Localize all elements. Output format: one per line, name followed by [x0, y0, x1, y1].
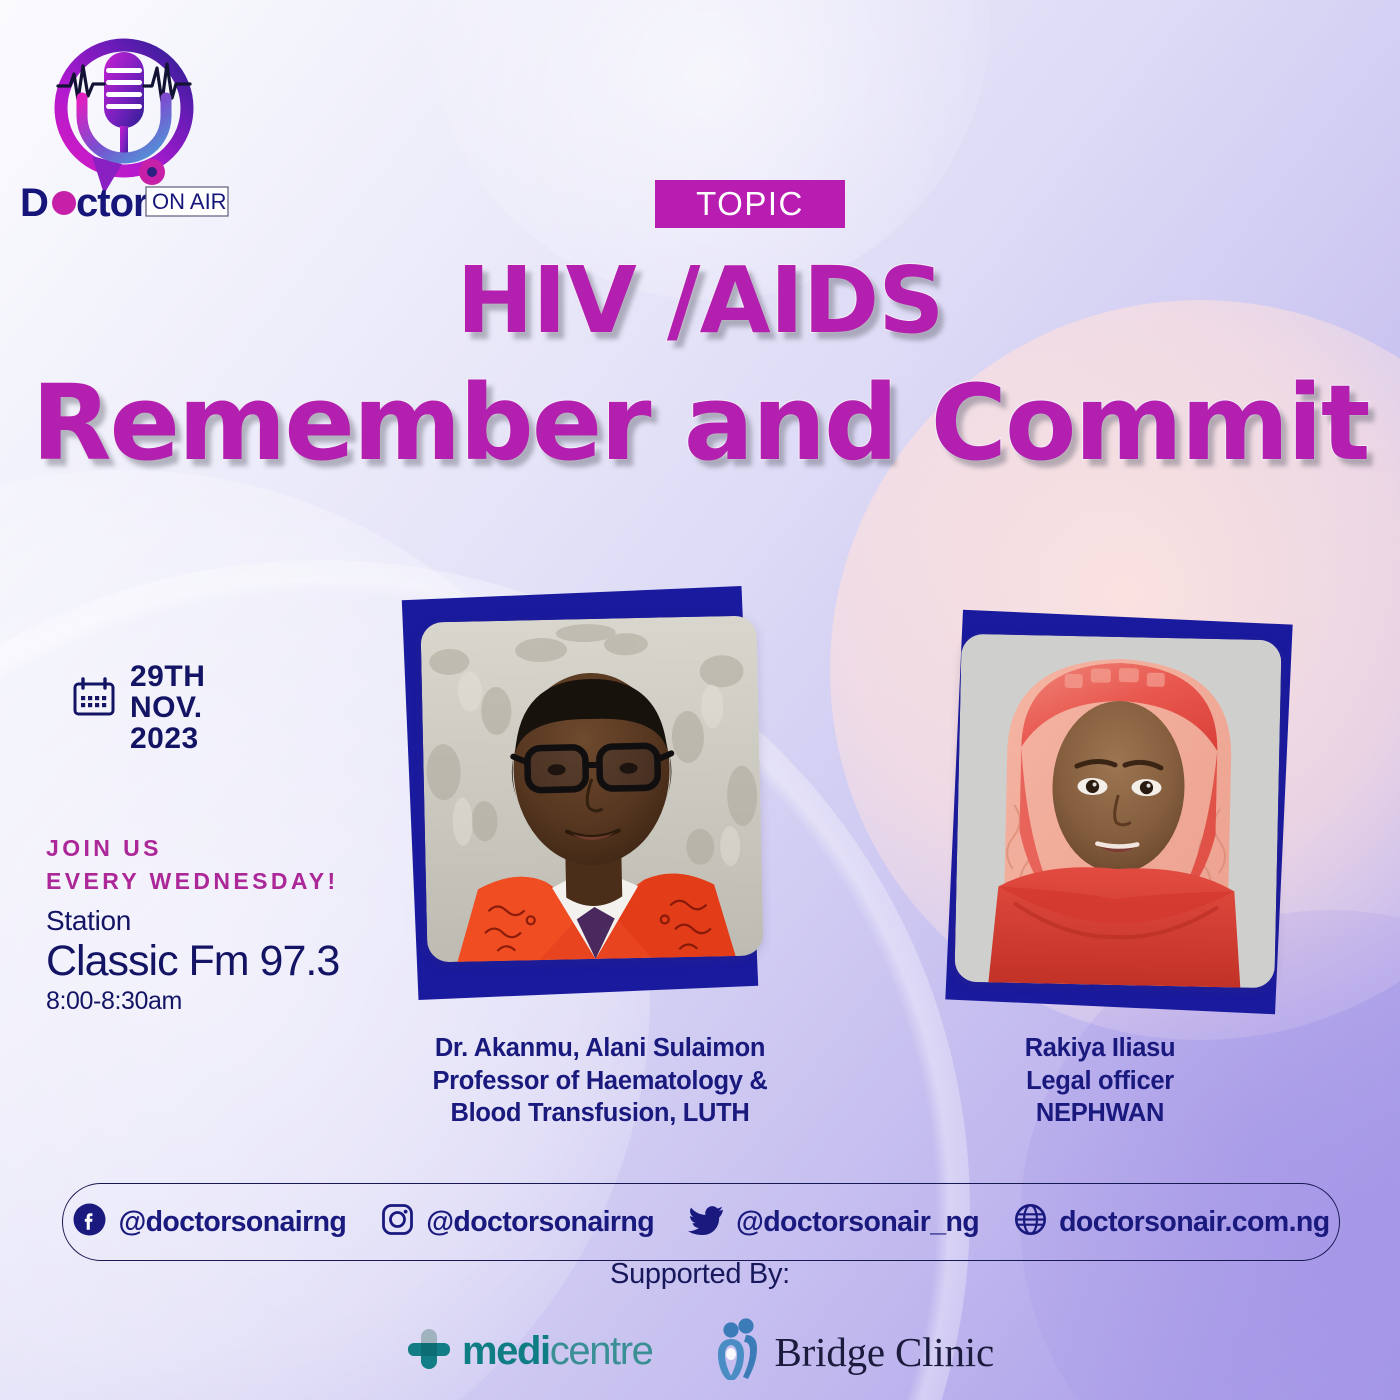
speaker-2-role1: Legal officer	[905, 1065, 1295, 1098]
svg-text:D: D	[20, 181, 48, 225]
station-label: Station	[46, 905, 339, 937]
logo-wordmark: D ctors ON AIR	[20, 181, 228, 225]
two-people-icon	[713, 1318, 765, 1385]
twitter-icon	[688, 1202, 725, 1242]
speaker-1-role2: Blood Transfusion, LUTH	[330, 1097, 870, 1130]
station-name: Classic Fm 97.3	[46, 937, 339, 985]
date-year: 2023	[130, 724, 205, 755]
speaker-2-role2: NEPHWAN	[905, 1097, 1295, 1130]
sponsor-bridge-clinic: Bridge Clinic	[713, 1318, 994, 1385]
sponsor-logos: medicentre Bridge Clinic	[0, 1318, 1400, 1385]
speaker-photo-1	[420, 616, 763, 963]
photo-frame-1	[400, 585, 790, 1005]
globe-icon	[1013, 1202, 1048, 1242]
date-day: 29TH	[130, 662, 205, 693]
bridge-clinic-wordmark: Bridge Clinic	[775, 1328, 994, 1376]
portrait-rakiya-iliasu	[954, 634, 1281, 989]
facebook-handle: @doctorsonairng	[118, 1206, 346, 1239]
join-us-callout: JOIN US EVERY WEDNESDAY!	[46, 832, 339, 897]
speaker-card-1	[400, 585, 790, 1005]
date-month: NOV.	[130, 693, 205, 724]
portrait-dr-akanmu	[420, 616, 763, 963]
speaker-1-role1: Professor of Haematology &	[330, 1065, 870, 1098]
station-time: 8:00-8:30am	[46, 986, 339, 1017]
speaker-caption-1: Dr. Akanmu, Alani Sulaimon Professor of …	[330, 1032, 870, 1130]
twitter-handle: @doctorsonair_ng	[736, 1206, 979, 1239]
medicentre-bold: medi	[462, 1329, 550, 1373]
instagram-handle: @doctorsonairng	[426, 1206, 654, 1239]
topic-badge: TOPIC	[655, 180, 845, 228]
social-link-twitter[interactable]: @doctorsonair_ng	[688, 1202, 979, 1242]
station-info: Station Classic Fm 97.3 8:00-8:30am	[46, 905, 339, 1018]
calendar-icon	[72, 676, 116, 725]
svg-text:ON AIR: ON AIR	[152, 189, 227, 214]
facebook-icon	[72, 1202, 107, 1242]
medicentre-light: centre	[550, 1329, 653, 1373]
page-title: HIV /AIDS Remember and Commit	[0, 255, 1400, 475]
social-links-bar: @doctorsonairng @doctorsonairng @doctors…	[62, 1183, 1340, 1261]
supported-by-label: Supported By:	[0, 1258, 1400, 1291]
speaker-card-2	[940, 615, 1310, 1015]
title-line-2: Remember and Commit	[0, 371, 1400, 475]
brand-logo: D ctors ON AIR	[18, 16, 230, 228]
join-us-line-1: JOIN US	[46, 832, 339, 865]
microphone-icon	[104, 52, 144, 160]
join-us-line-2: EVERY WEDNESDAY!	[46, 865, 339, 898]
speaker-2-name: Rakiya Iliasu	[905, 1032, 1295, 1065]
social-link-website[interactable]: doctorsonair.com.ng	[1013, 1202, 1329, 1242]
social-link-instagram[interactable]: @doctorsonairng	[380, 1202, 654, 1242]
title-line-1: HIV /AIDS	[0, 255, 1400, 347]
instagram-icon	[380, 1202, 415, 1242]
speaker-caption-2: Rakiya Iliasu Legal officer NEPHWAN	[905, 1032, 1295, 1130]
pill-cross-icon	[406, 1324, 452, 1379]
medicentre-wordmark: medicentre	[462, 1329, 653, 1374]
website-handle: doctorsonair.com.ng	[1059, 1206, 1329, 1239]
event-date: 29TH NOV. 2023	[72, 662, 205, 755]
speaker-1-name: Dr. Akanmu, Alani Sulaimon	[330, 1032, 870, 1065]
photo-frame-2	[940, 615, 1310, 1015]
social-link-facebook[interactable]: @doctorsonairng	[72, 1202, 346, 1242]
speaker-photo-2	[954, 634, 1281, 989]
topic-badge-label: TOPIC	[696, 185, 804, 223]
sponsor-medicentre: medicentre	[406, 1324, 653, 1379]
